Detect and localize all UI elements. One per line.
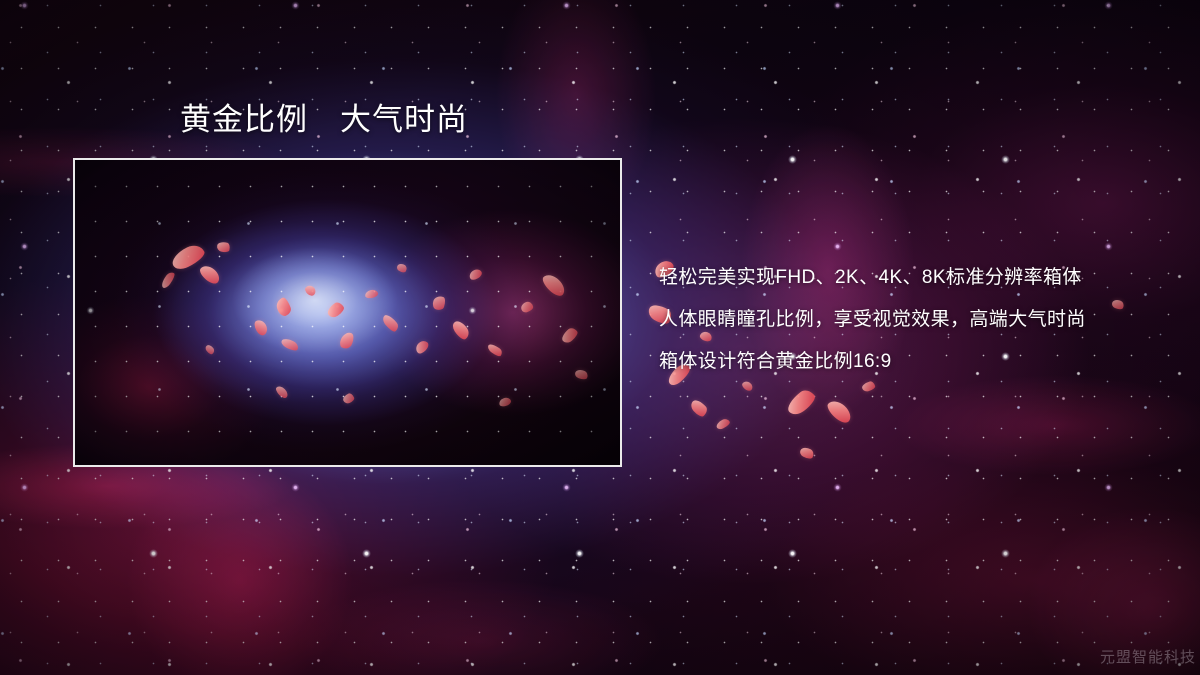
page-title: 黄金比例 大气时尚 [180, 103, 468, 137]
rose-petal-icon [715, 417, 731, 430]
rose-petal-icon [784, 387, 818, 419]
rose-petal-icon [798, 445, 815, 460]
body-line-1: 轻松完美实现FHD、2K、4K、8K标准分辨率箱体 [659, 257, 1179, 299]
preview-panel-frame [73, 158, 622, 467]
rose-petal-icon [689, 397, 710, 418]
watermark: 元盟智能科技 [1100, 646, 1196, 667]
body-text-block: 轻松完美实现FHD、2K、4K、8K标准分辨率箱体 人体眼睛瞳孔比例，享受视觉效… [659, 257, 1179, 383]
rose-petal-icon [824, 397, 854, 426]
body-line-2: 人体眼睛瞳孔比例，享受视觉效果，高端大气时尚 [659, 299, 1179, 341]
slide-canvas: 黄金比例 大气时尚 轻松完美实现FHD、2K、4K、8K标准分辨率箱体 人体眼睛… [0, 0, 1200, 675]
panel-vignette [75, 160, 620, 465]
preview-panel-content [75, 160, 620, 465]
body-line-3: 箱体设计符合黄金比例16:9 [659, 341, 1179, 383]
